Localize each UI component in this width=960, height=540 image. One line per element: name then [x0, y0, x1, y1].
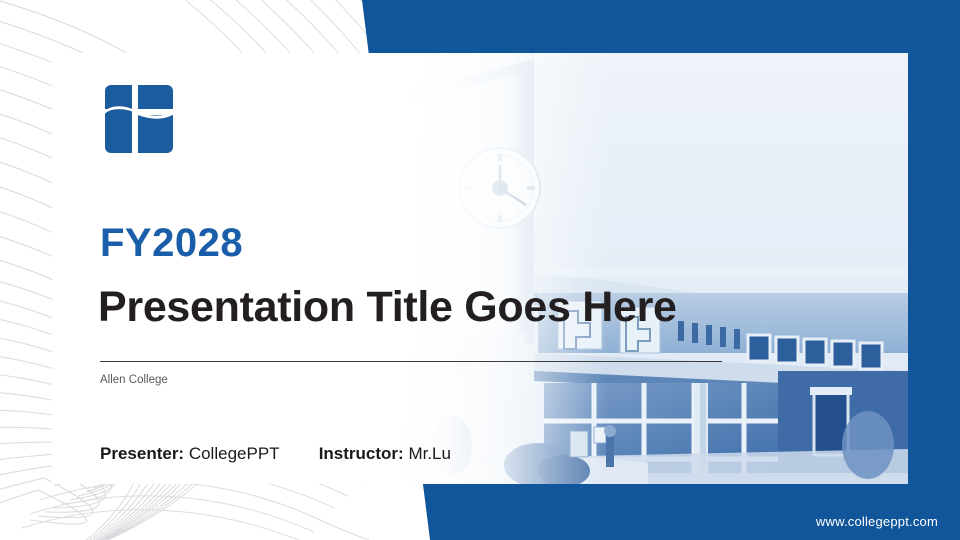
- presenter-label: Presenter:: [100, 444, 189, 463]
- credits-line: Presenter: CollegePPT Instructor: Mr.Lu: [100, 445, 451, 462]
- fiscal-year-label: FY2028: [100, 223, 243, 263]
- card-content: FY2028 Presentation Title Goes Here Alle…: [52, 53, 908, 484]
- presenter-value: CollegePPT: [189, 444, 279, 463]
- content-card: FY2028 Presentation Title Goes Here Alle…: [52, 53, 908, 484]
- title-divider: [100, 361, 722, 362]
- page-title: Presentation Title Goes Here: [98, 286, 677, 329]
- presentation-slide: FY2028 Presentation Title Goes Here Alle…: [0, 0, 960, 540]
- instructor-value: Mr.Lu: [408, 444, 451, 463]
- instructor-label: Instructor:: [319, 444, 409, 463]
- school-name: Allen College: [100, 375, 168, 387]
- allen-college-logo-icon: [101, 81, 177, 157]
- footer-website-url[interactable]: www.collegeppt.com: [816, 514, 938, 529]
